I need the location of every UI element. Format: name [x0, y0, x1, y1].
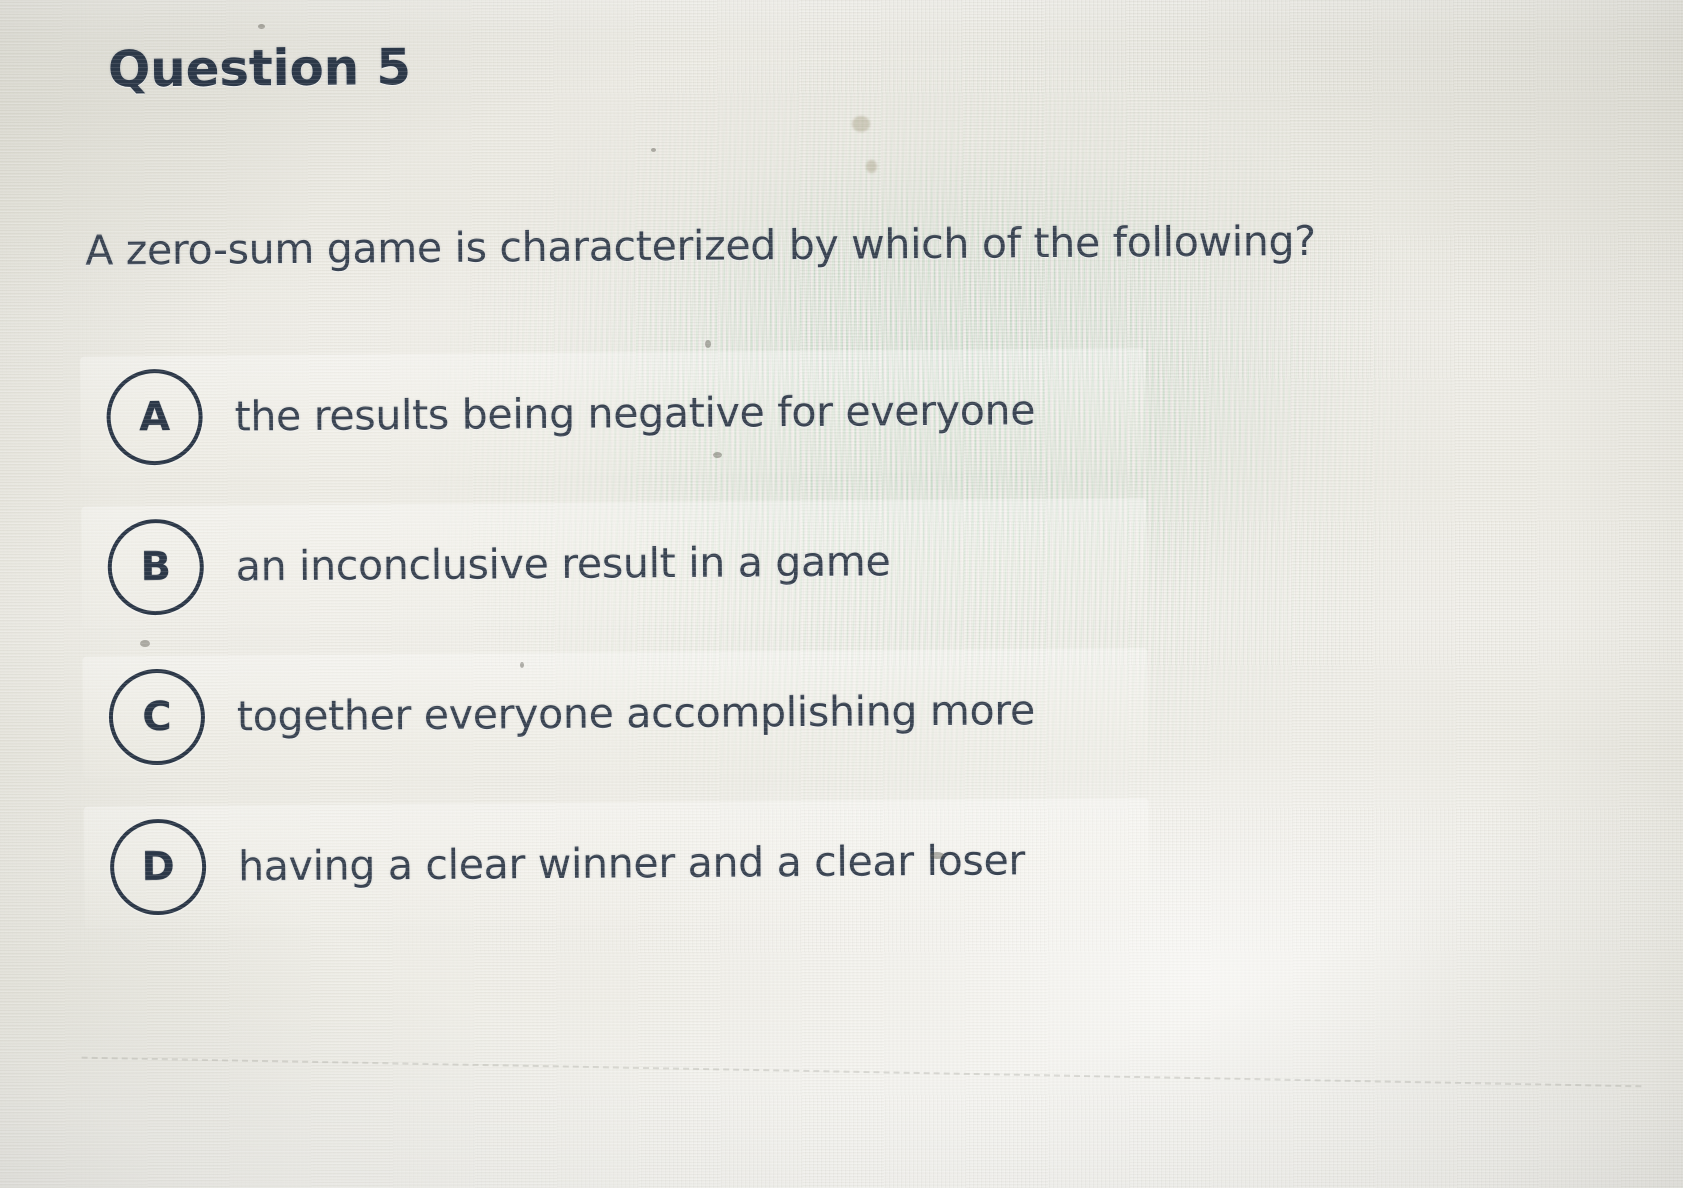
question-content: Question 5 A zero-sum game is characteri… — [0, 0, 1683, 1188]
dust-smudge — [866, 160, 877, 173]
quiz-question-screenshot: Question 5 A zero-sum game is characteri… — [0, 0, 1683, 1188]
bottom-divider — [82, 1057, 1642, 1088]
answer-option-c[interactable]: C together everyone accomplishing more — [82, 633, 1263, 792]
option-letter-circle-b[interactable]: B — [107, 519, 204, 616]
option-label-b[interactable]: an inconclusive result in a game — [236, 537, 891, 590]
dust-speck — [520, 662, 524, 668]
option-letter-circle-d[interactable]: D — [110, 819, 207, 916]
dust-speck — [705, 340, 711, 348]
dust-speck — [713, 452, 722, 458]
answer-option-a[interactable]: A the results being negative for everyon… — [80, 333, 1261, 492]
dust-speck — [258, 24, 265, 29]
answer-options-list: A the results being negative for everyon… — [80, 333, 1265, 942]
page-title: Question 5 — [108, 38, 411, 98]
dust-speck — [140, 640, 150, 647]
option-letter-circle-c[interactable]: C — [109, 669, 206, 766]
option-letter-circle-a[interactable]: A — [106, 369, 203, 466]
question-prompt: A zero-sum game is characterized by whic… — [85, 216, 1415, 274]
answer-option-d[interactable]: D having a clear winner and a clear lose… — [84, 783, 1265, 942]
dust-smudge — [852, 116, 870, 132]
answer-option-b[interactable]: B an inconclusive result in a game — [81, 483, 1262, 642]
option-label-a[interactable]: the results being negative for everyone — [234, 386, 1035, 440]
dust-speck — [930, 852, 944, 859]
option-label-d[interactable]: having a clear winner and a clear loser — [238, 836, 1025, 890]
option-label-c[interactable]: together everyone accomplishing more — [237, 686, 1035, 740]
dust-speck — [651, 148, 656, 152]
